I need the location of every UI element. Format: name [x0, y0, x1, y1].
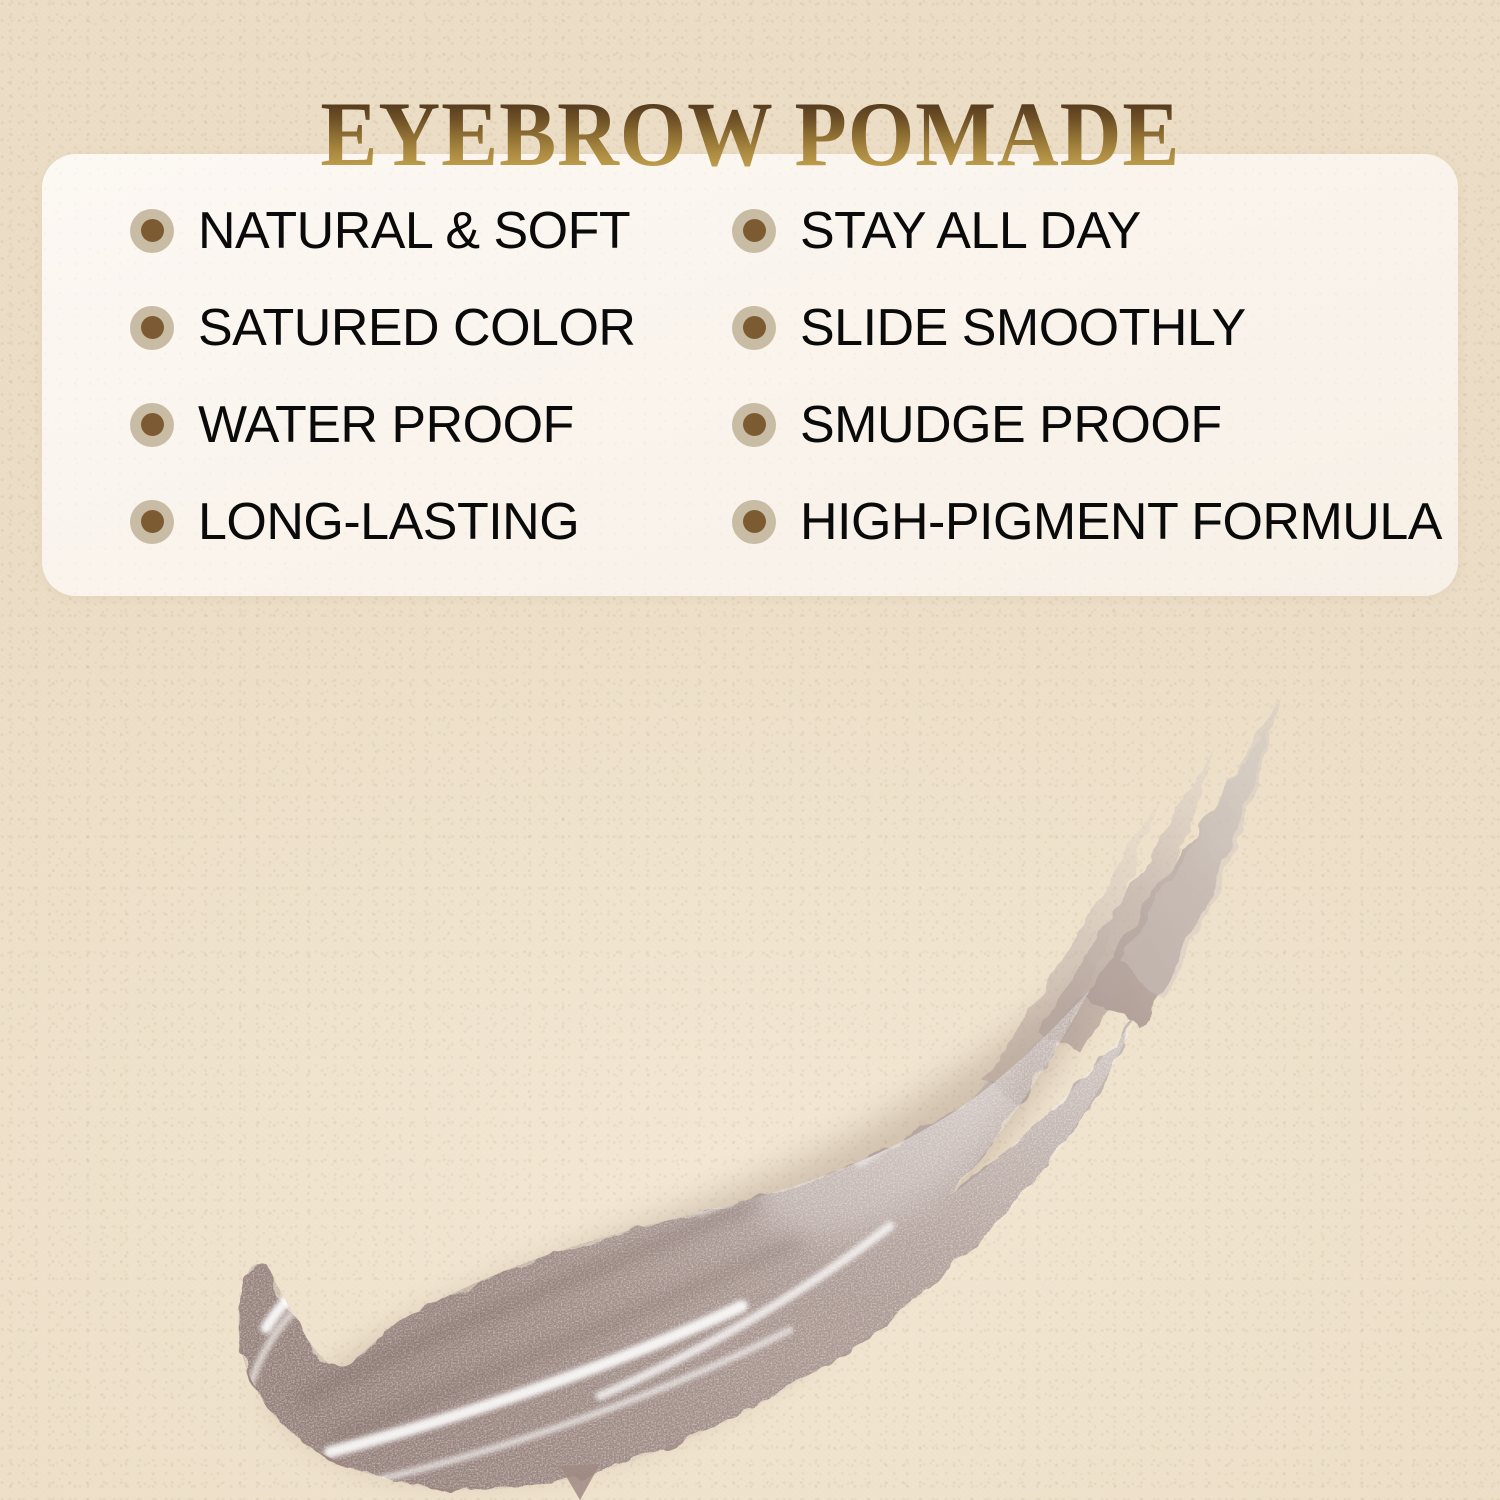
feature-item: WATER PROOF — [130, 376, 732, 473]
product-swatch — [0, 600, 1500, 1500]
bullet-dot-icon — [130, 306, 174, 350]
product-feature-poster: EYEBROW POMADE NATURAL & SOFT STAY ALL D… — [0, 0, 1500, 1500]
feature-label: HIGH-PIGMENT FORMULA — [800, 496, 1442, 548]
feature-label: WATER PROOF — [198, 399, 574, 451]
pomade-cream-swatch-graphic — [0, 600, 1500, 1500]
bullet-dot-icon — [732, 500, 776, 544]
feature-label: SLIDE SMOOTHLY — [800, 302, 1246, 354]
feature-item: LONG-LASTING — [130, 473, 732, 570]
swatch-tip-streaks — [985, 695, 1280, 1105]
swatch-shimmer — [0, 600, 1500, 1500]
bullet-dot-icon — [732, 306, 776, 350]
page-title: EYEBROW POMADE — [320, 88, 1180, 180]
title-container: EYEBROW POMADE — [0, 26, 1500, 241]
feature-label: SMUDGE PROOF — [800, 399, 1222, 451]
feature-label: LONG-LASTING — [198, 496, 579, 548]
feature-item: HIGH-PIGMENT FORMULA — [732, 473, 1458, 570]
bullet-dot-icon — [130, 403, 174, 447]
feature-item: SLIDE SMOOTHLY — [732, 279, 1458, 376]
bullet-dot-icon — [732, 403, 776, 447]
feature-label: SATURED COLOR — [198, 302, 635, 354]
feature-item: SATURED COLOR — [130, 279, 732, 376]
bullet-dot-icon — [130, 500, 174, 544]
swatch-notch — [560, 1464, 600, 1500]
feature-item: SMUDGE PROOF — [732, 376, 1458, 473]
